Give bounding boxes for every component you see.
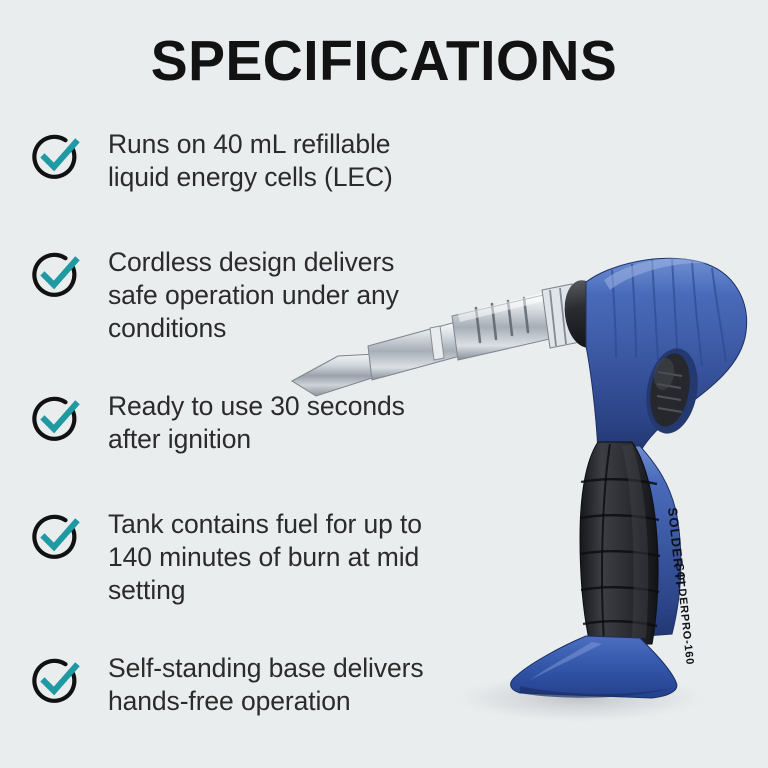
- check-circle-icon: [30, 392, 84, 446]
- page-title: SPECIFICATIONS: [12, 28, 757, 94]
- check-circle-icon: [30, 248, 84, 302]
- check-circle-icon: [30, 130, 84, 184]
- soldering-tip: [292, 284, 580, 396]
- spec-item-label: Runs on 40 mL refillable liquid energy c…: [108, 128, 393, 194]
- check-circle-icon: [30, 510, 84, 564]
- product-image-soldering-torch: SOLDER·IT SOLDERPRO-160: [280, 246, 760, 746]
- specifications-page: SPECIFICATIONS Runs on 40 mL refillable …: [0, 0, 768, 768]
- spec-item-fuel-cells: Runs on 40 mL refillable liquid energy c…: [30, 128, 393, 194]
- check-circle-icon: [30, 654, 84, 708]
